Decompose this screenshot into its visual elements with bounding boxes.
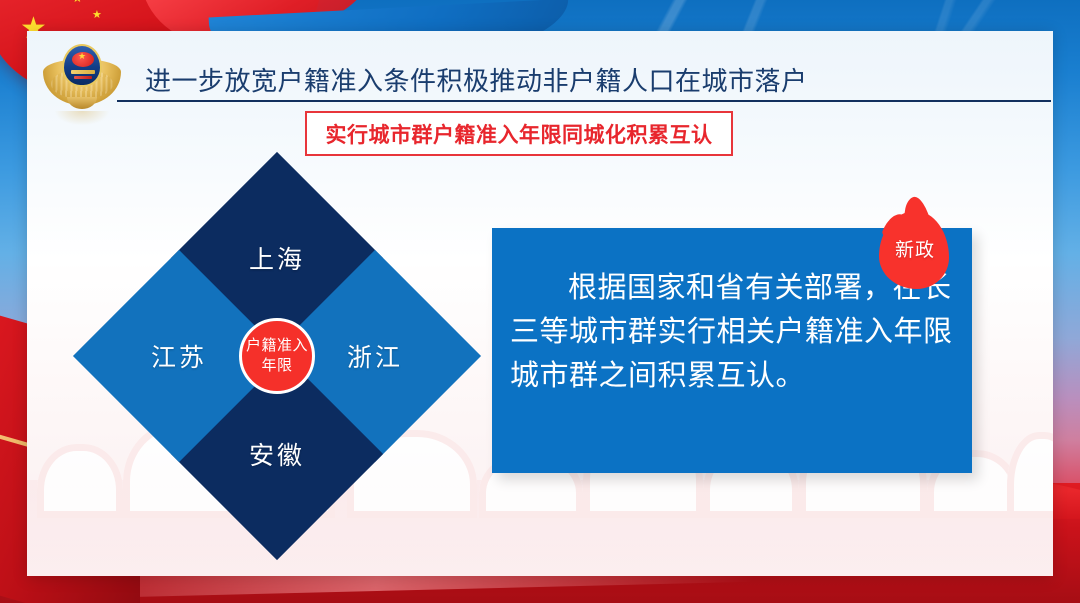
emblem-base [67, 97, 97, 109]
emblem-reflection [55, 111, 109, 125]
flag-star-small-1: ★ [72, 0, 83, 4]
subtitle-box: 实行城市群户籍准入年限同城化积累互认 [305, 111, 733, 156]
diamond-diagram: 上海 浙江 安徽 江苏 户籍准入年限 [77, 169, 477, 541]
emblem-gold-bar [71, 70, 95, 74]
diagram-node-label: 安徽 [249, 436, 305, 472]
diagram-node-label: 浙江 [347, 338, 403, 374]
flame-icon: 新政 [873, 201, 957, 293]
police-emblem-icon: ★ [43, 39, 121, 121]
page-title: 进一步放宽户籍准入条件积极推动非户籍人口在城市落户 [145, 61, 808, 98]
flag-star-small-2: ★ [92, 10, 102, 21]
slide-panel: ★ 进一步放宽户籍准入条件积极推动非户籍人口在城市落户 实行城市群户籍准入年限同… [27, 31, 1053, 576]
emblem-shield: ★ [62, 44, 102, 87]
header-divider [117, 100, 1051, 102]
diagram-hub-label: 户籍准入年限 [242, 336, 312, 376]
diagram-node-label: 上海 [249, 240, 305, 276]
subtitle-text: 实行城市群户籍准入年限同城化积累互认 [326, 119, 713, 149]
diagram-hub[interactable]: 户籍准入年限 [239, 318, 315, 394]
slide-stage: ★ ★ ★ ★ ★ ★ [0, 0, 1080, 603]
emblem-star-icon: ★ [78, 52, 86, 61]
diagram-node-label: 江苏 [151, 338, 207, 374]
emblem-red-bar [74, 76, 92, 79]
new-policy-badge-label: 新政 [873, 235, 957, 262]
